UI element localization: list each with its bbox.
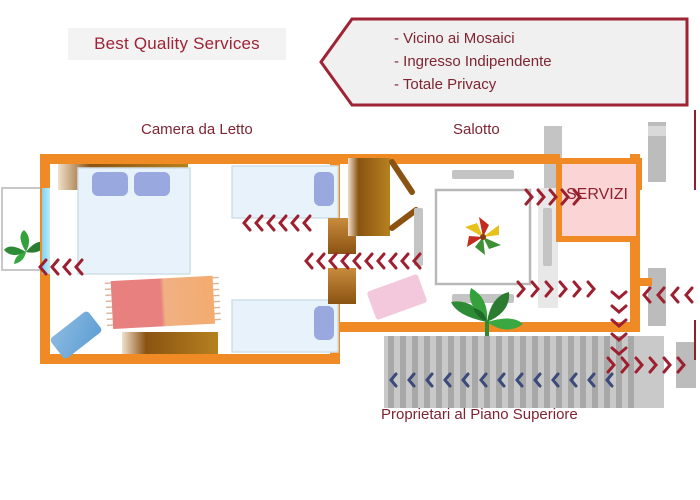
corridor-wall-block (648, 268, 666, 326)
features-list: - Vicino ai Mosaici - Ingresso Indipende… (394, 28, 552, 96)
features-callout: - Vicino ai Mosaici - Ingresso Indipende… (318, 16, 690, 108)
pillow-right (134, 172, 170, 196)
page-title: Best Quality Services (94, 34, 260, 54)
chair-top (452, 170, 514, 179)
floorplan-drawing (0, 110, 700, 410)
feature-item-0: - Vicino ai Mosaici (394, 28, 552, 51)
feature-item-2: - Totale Privacy (394, 74, 552, 97)
corridor-door-marker (634, 278, 652, 286)
door-bedroom (348, 158, 416, 236)
floorplan-canvas: Best Quality Services - Vicino ai Mosaic… (0, 0, 700, 500)
label-services: SERVIZI (566, 186, 628, 204)
single-bed-lower (232, 268, 356, 352)
pillow-left (92, 172, 128, 196)
feature-item-1: - Ingresso Indipendente (394, 51, 552, 74)
pink-furniture (366, 274, 427, 321)
chair-right (543, 208, 552, 266)
pillow-upper (314, 172, 334, 206)
single-bed-upper (232, 166, 356, 254)
pillow-lower (314, 306, 334, 340)
page-title-chip: Best Quality Services (68, 28, 286, 60)
nightstand-lower (328, 268, 356, 304)
armchair (49, 310, 103, 360)
double-bed (58, 164, 190, 274)
rug (105, 275, 221, 329)
arrow-flow-corridor (306, 254, 420, 268)
sideboard (122, 332, 218, 354)
